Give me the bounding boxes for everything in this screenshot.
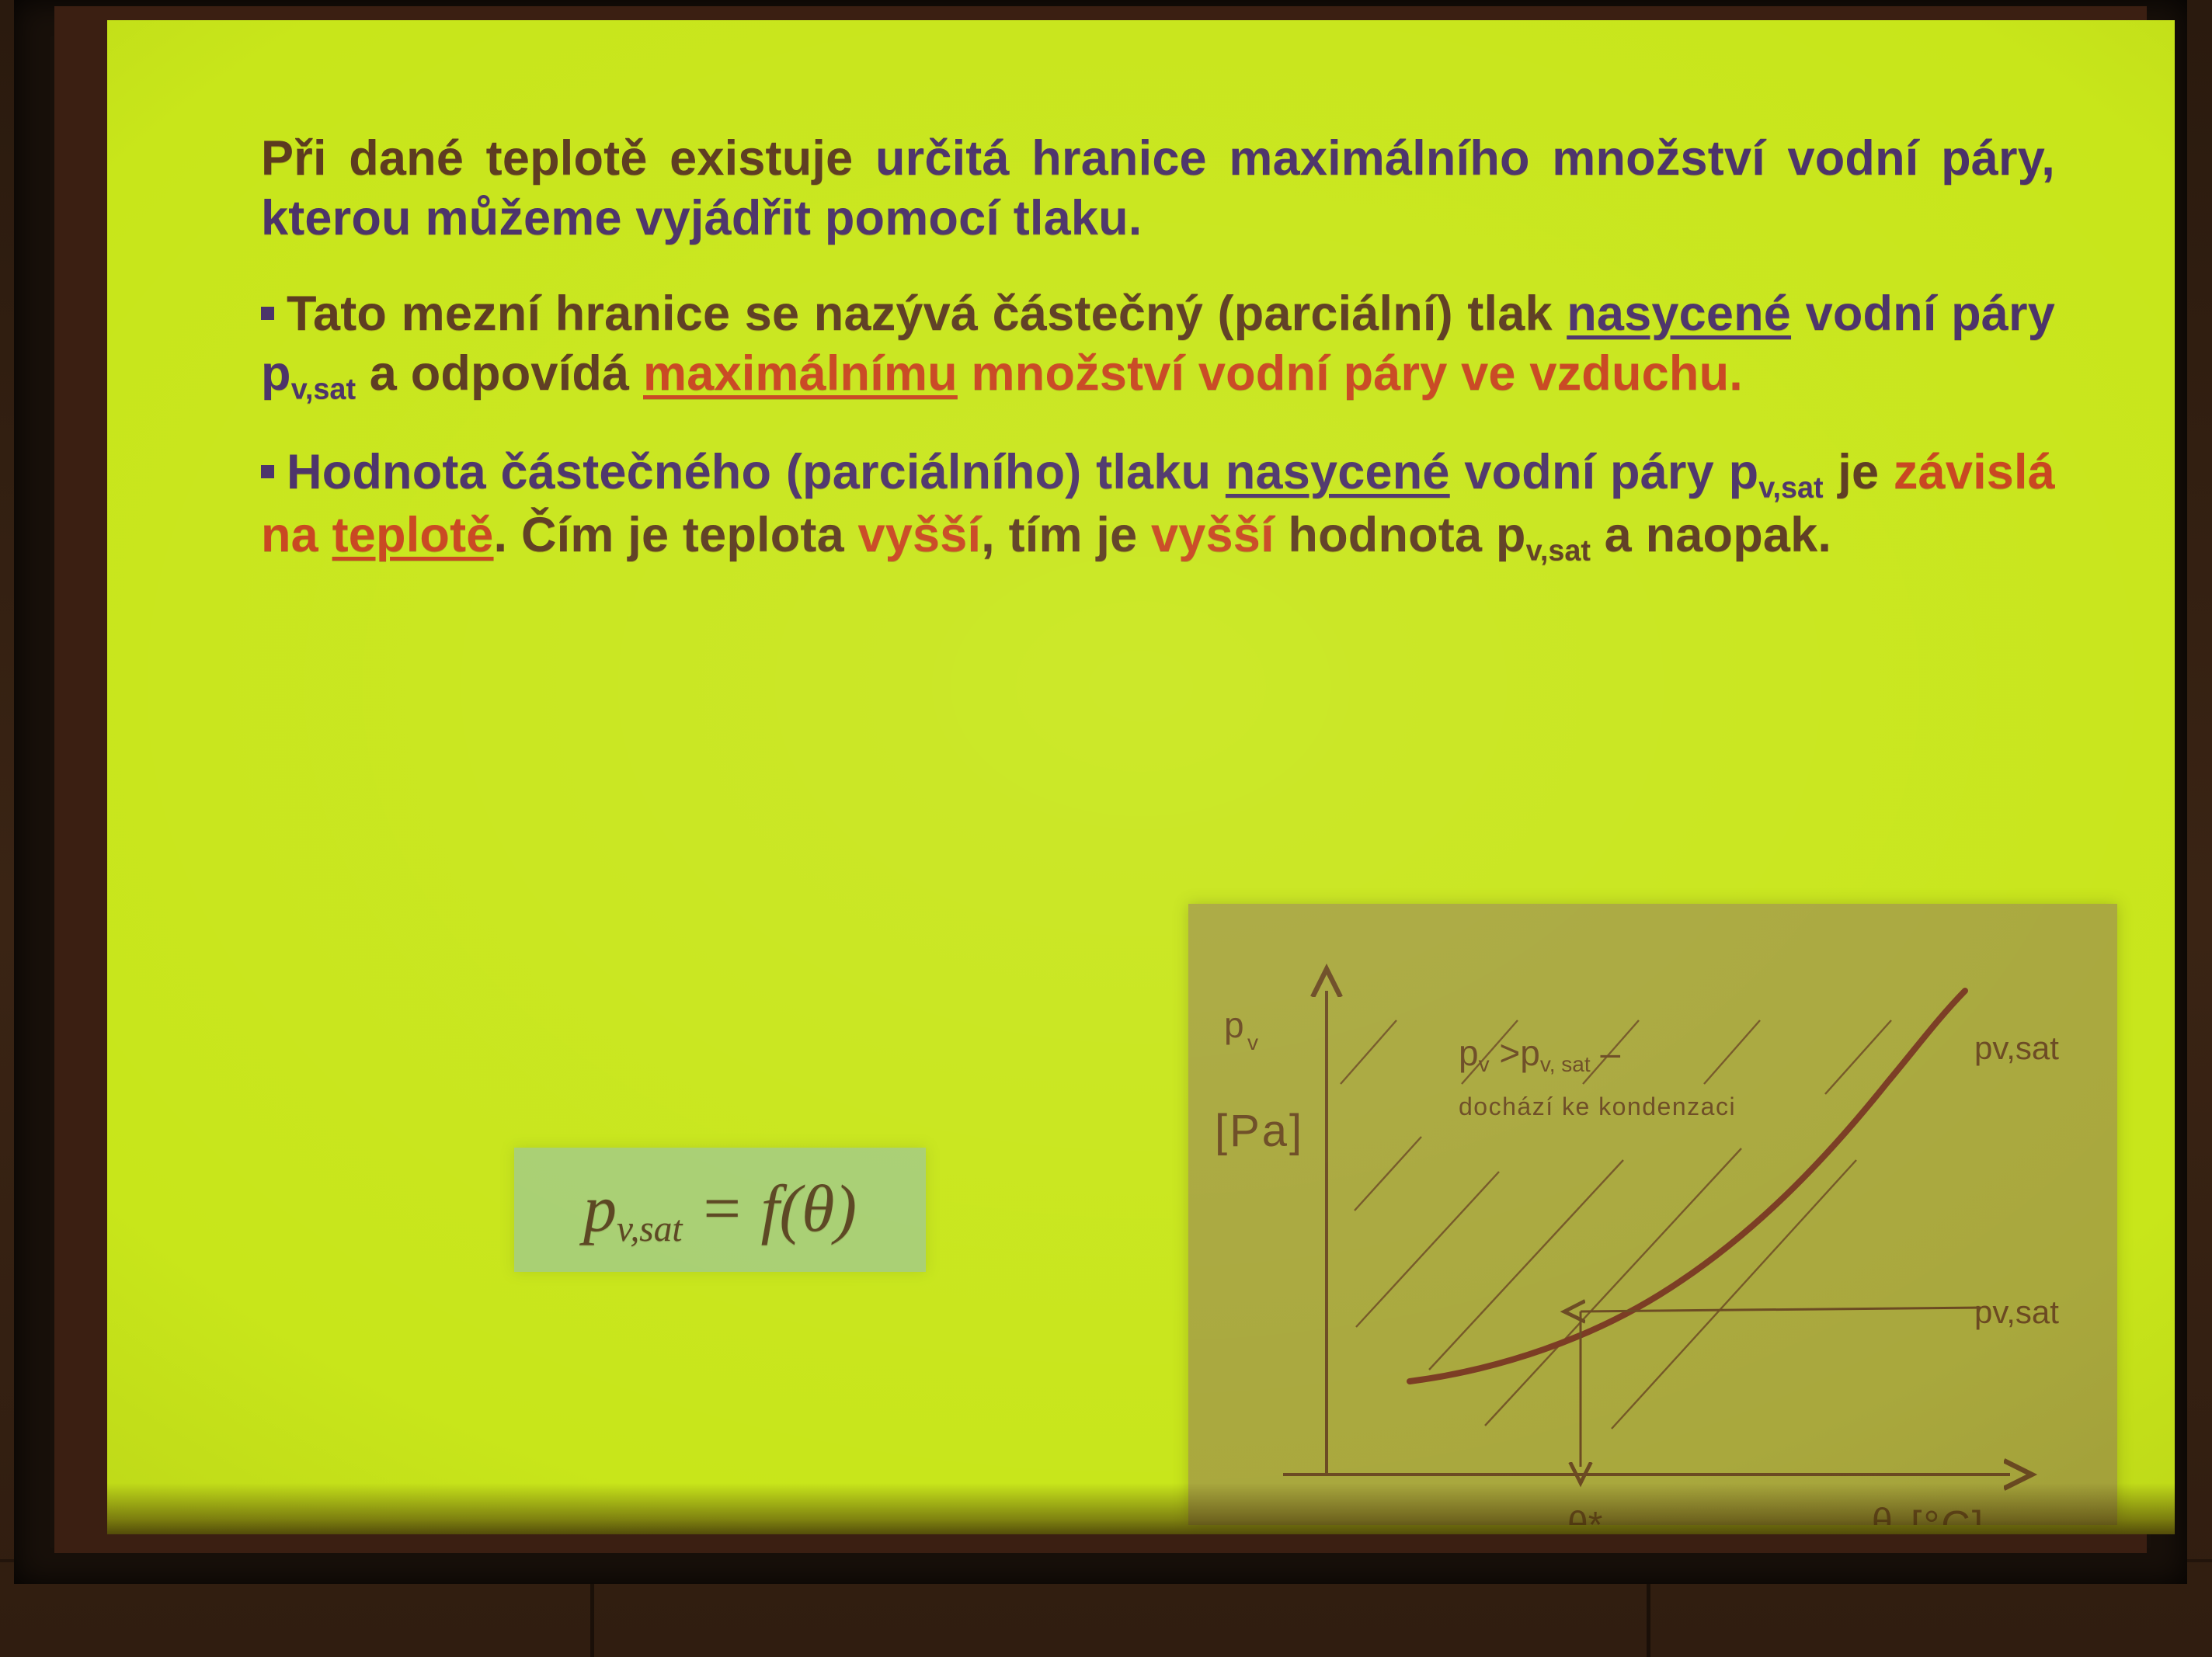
level-label-pvsat: pv,sat [1974, 1294, 2059, 1330]
ann-gt-p: >p [1490, 1033, 1540, 1073]
def-underline-maximalnimu: maximálnímu [643, 346, 958, 401]
y-axis-unit: [Pa] [1215, 1106, 1304, 1156]
paragraph-definition: Tato mezní hranice se nazývá částečný (p… [261, 284, 2055, 407]
dep-red-vyssi-1: vyšší [858, 508, 982, 562]
chart-svg: p v [Pa] θ* θ [°C] pv,sat pv,sat pv >pv,… [1188, 904, 2117, 1525]
formula-lhs-base: p [583, 1171, 617, 1245]
ann-pv: p [1459, 1033, 1479, 1073]
slide-text-block: Při dané teplotě existuje určitá hranice… [261, 129, 2055, 569]
saturation-pressure-chart: p v [Pa] θ* θ [°C] pv,sat pv,sat pv >pv,… [1188, 904, 2117, 1525]
dep-subscript-vsat-1: v,sat [1758, 471, 1823, 504]
condensation-annotation-line1: pv >pv, sat – [1459, 1033, 1620, 1076]
y-axis-symbol-subscript: v [1247, 1030, 1258, 1054]
intro-run-1: Při dané teplotě existuje [261, 131, 875, 186]
formula-argument: (θ) [779, 1171, 857, 1245]
def-run-4: množství vodní páry ve vzduchu. [958, 346, 1743, 401]
curve-label-pvsat: pv,sat [1974, 1030, 2059, 1066]
paragraph-dependence: Hodnota částečného (parciálního) tlaku n… [261, 443, 2055, 569]
condensation-hatching [1341, 1020, 1891, 1429]
intro-run-2: určitá hranice maximálního množství [875, 131, 1765, 186]
dep-underline-nasycene: nasycené [1226, 445, 1450, 499]
def-run-3: a odpovídá [356, 346, 643, 401]
formula-expression: pv,sat = f(θ) [583, 1169, 857, 1250]
slide-bottom-shadow [107, 1483, 2175, 1534]
dep-run-7: a naopak. [1591, 508, 1831, 562]
dep-subscript-vsat-2: v,sat [1526, 535, 1591, 568]
projection-screen-frame: Při dané teplotě existuje určitá hranice… [14, 0, 2187, 1584]
formula-function: f [761, 1171, 780, 1245]
ann-pvsat-sub: v, sat [1540, 1052, 1591, 1076]
ann-dash: – [1591, 1033, 1621, 1073]
y-axis-symbol: p [1224, 1005, 1244, 1045]
dep-run-2: vodní páry p [1450, 445, 1759, 499]
dep-underline-teplote: teplotě [332, 508, 494, 562]
condensation-annotation-line2: dochází ke kondenzaci [1459, 1093, 1736, 1120]
dep-run-3: je [1824, 445, 1894, 499]
formula-operator: = [683, 1171, 761, 1245]
projection-screen-inner-border: Při dané teplotě existuje určitá hranice… [54, 6, 2147, 1553]
dep-red-vyssi-2: vyšší [1151, 508, 1275, 562]
def-underline-nasycene: nasycené [1567, 287, 1791, 341]
dep-run-5: , tím je [981, 508, 1151, 562]
projected-slide: Při dané teplotě existuje určitá hranice… [107, 20, 2175, 1534]
formula-lhs-subscript: v,sat [617, 1209, 683, 1249]
bullet-square-icon [261, 307, 274, 320]
dep-run-1: Hodnota částečného (parciálního) tlaku [287, 445, 1226, 499]
def-run-1: Tato mezní hranice se nazývá částečný (p… [287, 287, 1567, 341]
paragraph-intro: Při dané teplotě existuje určitá hranice… [261, 129, 2055, 248]
dep-run-4: . Čím je teplota [494, 508, 858, 562]
dep-run-6: hodnota p [1275, 508, 1526, 562]
bullet-square-icon-2 [261, 465, 274, 478]
formula-plate: pv,sat = f(θ) [514, 1148, 926, 1272]
def-subscript-vsat: v,sat [291, 373, 356, 405]
ann-pv-sub: v [1479, 1052, 1490, 1076]
